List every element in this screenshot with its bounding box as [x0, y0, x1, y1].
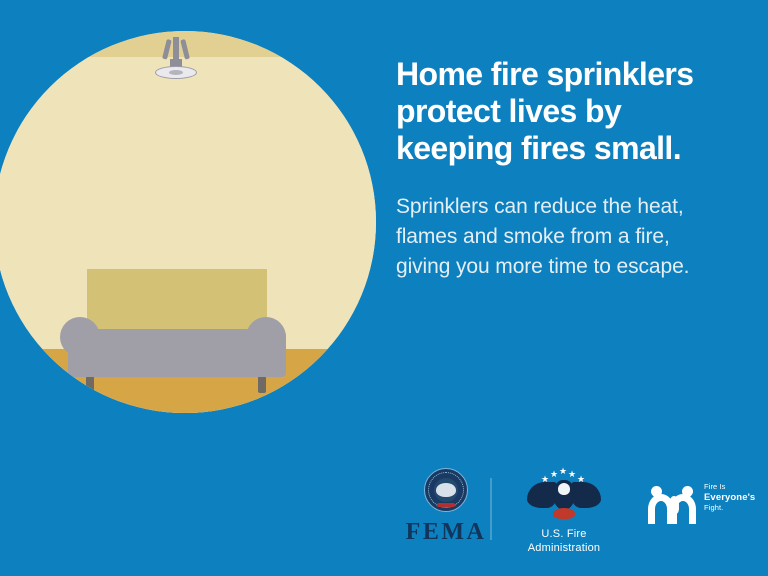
headline-line-2: protect lives by [396, 93, 746, 130]
headline: Home fire sprinklers protect lives by ke… [396, 56, 746, 167]
feif-figures-icon [648, 482, 700, 522]
subcopy-line-2: flames and smoke from a fire, [396, 222, 746, 252]
feif-caption-line-2: Everyone's [704, 493, 755, 504]
usfa-caption-line-2: Administration [508, 541, 620, 555]
fema-wordmark: FEMA [398, 519, 494, 545]
sofa-arm-right [246, 317, 286, 357]
subcopy-line-1: Sprinklers can reduce the heat, [396, 192, 746, 222]
logo-band: FEMA ★ ★ ★ ★ ★ U.S. Fire Administration [380, 466, 768, 562]
headline-line-1: Home fire sprinklers [396, 56, 746, 93]
sprinkler-prong-left [162, 39, 172, 60]
usfa-logo: ★ ★ ★ ★ ★ U.S. Fire Administration [508, 468, 620, 560]
poster-canvas: Home fire sprinklers protect lives by ke… [0, 0, 768, 576]
room-scene [0, 31, 376, 413]
usfa-eagle-icon: ★ ★ ★ ★ ★ [526, 468, 602, 524]
feif-caption: Fire Is Everyone's Fight. [704, 482, 755, 514]
usfa-eagle-head [558, 483, 570, 495]
subcopy: Sprinklers can reduce the heat, flames a… [396, 192, 746, 282]
feif-caption-line-3: Fight. [704, 503, 755, 514]
subcopy-line-3: giving you more time to escape. [396, 252, 746, 282]
usfa-flame-icon [553, 508, 575, 519]
usfa-caption: U.S. Fire Administration [508, 527, 620, 555]
sprinkler-prong-right [180, 39, 190, 60]
sofa-arm-left [60, 317, 100, 357]
headline-line-3: keeping fires small. [396, 130, 746, 167]
fire-is-everyones-fight-logo: Fire Is Everyone's Fight. [648, 480, 766, 532]
feif-caption-line-1: Fire Is [704, 482, 755, 493]
logo-divider [490, 478, 492, 540]
sprinkler-head-icon [153, 37, 199, 85]
fema-logo: FEMA [398, 468, 494, 558]
usfa-caption-line-1: U.S. Fire [508, 527, 620, 541]
feif-flame-center [669, 496, 679, 514]
dhs-eagle-icon [436, 483, 456, 497]
usfa-wing-right [571, 482, 601, 508]
illustration-circle [0, 31, 376, 413]
dhs-seal-red-accent [437, 503, 455, 507]
sprinkler-deflector-center [169, 70, 183, 75]
sofa [60, 269, 294, 394]
dhs-seal-icon [424, 468, 468, 512]
